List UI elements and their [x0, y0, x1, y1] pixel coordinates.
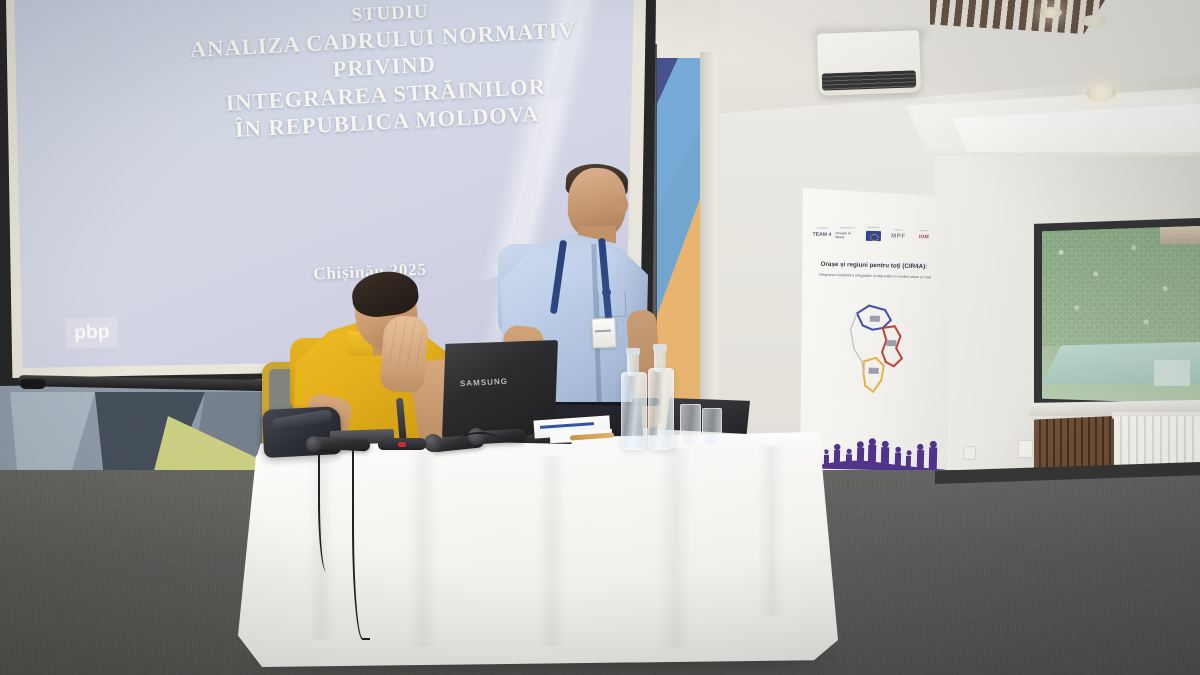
- banner-logo-caption: Cofinanțat de: [867, 227, 880, 229]
- air-conditioner-vent: [822, 70, 917, 90]
- banner-logo-caption: Finanțat de: [817, 228, 828, 230]
- banner-logo-item: Finanțat de TEAM 4: [810, 227, 834, 238]
- banner-logo-caption: Partener: [894, 230, 902, 232]
- cable: [460, 432, 500, 450]
- recording-led: [398, 442, 406, 447]
- downlight-icon: [1081, 15, 1107, 27]
- window-glass: [1042, 226, 1200, 404]
- banner-logo-mark: People in Need: [835, 231, 859, 240]
- bottle-cap: [626, 348, 640, 355]
- cloth-fold: [758, 446, 784, 616]
- power-outlet: [963, 446, 976, 460]
- banner-logo-mark: TEAM 4: [812, 232, 831, 238]
- banner-logo-caption: Partener: [920, 230, 928, 232]
- standing-man-ear: [616, 196, 628, 214]
- microphone-head: [424, 434, 442, 452]
- moldova-map-svg: [837, 299, 932, 411]
- light-switch[interactable]: [1018, 440, 1033, 458]
- cloth-fold: [658, 448, 692, 648]
- bottle-neck: [654, 348, 666, 372]
- water-bottle: [621, 372, 647, 450]
- water-bottle: [648, 368, 674, 450]
- pbp-logo-text: pbp: [74, 321, 110, 344]
- cable: [352, 448, 370, 640]
- bottle-neck: [627, 352, 639, 376]
- cable: [318, 452, 332, 572]
- microphone-head: [306, 436, 322, 452]
- drinking-glass: [680, 404, 701, 446]
- cloth-fold: [538, 456, 566, 646]
- banner-logo-item: Partener MPF: [886, 229, 910, 240]
- standing-man-shirt-pocket: [598, 292, 627, 318]
- pbp-logo: pbp: [65, 317, 118, 349]
- id-badge: [591, 317, 617, 348]
- banner-logo-strip: Finanțat de TEAM 4 Implementat de People…: [810, 220, 937, 247]
- window-outdoor-box: [1154, 360, 1190, 386]
- banner-logo-mark: IOM: [919, 234, 929, 240]
- drinking-glass: [702, 408, 722, 446]
- door-jamb: [700, 52, 716, 434]
- banner-logo-item: Cofinanțat de: [861, 227, 885, 242]
- banner-logo-caption: Implementat de: [840, 227, 855, 229]
- screenshot-scene: STUDIU ANALIZA CADRULUI NORMATIV PRIVIND…: [0, 0, 1200, 675]
- window-sky-patch: [1160, 226, 1200, 244]
- bottle-cap: [653, 344, 667, 351]
- seated-man-fingers: [384, 317, 424, 371]
- screen-roller-knob: [20, 379, 46, 389]
- banner-logo-mark: MPF: [891, 233, 906, 239]
- downlight-icon: [1040, 7, 1062, 18]
- banner-logo-item: Implementat de People in Need: [835, 227, 859, 240]
- banner-logo-item: Partener IOM: [912, 230, 936, 241]
- moldova-map-icon: [837, 299, 932, 411]
- downlight-icon: [1086, 85, 1116, 101]
- cloth-fold: [408, 452, 438, 647]
- eu-flag-icon: [865, 231, 880, 241]
- hedge-foliage: [1042, 226, 1200, 346]
